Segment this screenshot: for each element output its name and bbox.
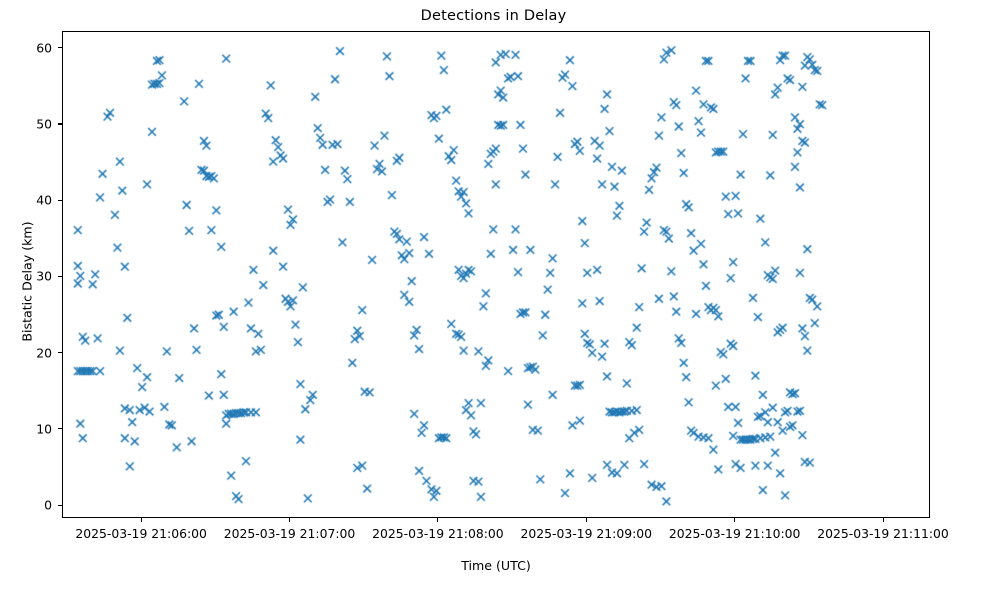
y-tick-mark xyxy=(58,428,62,429)
x-tick-label: 2025-03-19 21:10:00 xyxy=(669,526,801,541)
x-tick-label: 2025-03-19 21:07:00 xyxy=(224,526,356,541)
x-tick-mark xyxy=(437,518,438,522)
y-tick-mark xyxy=(58,276,62,277)
y-tick-mark xyxy=(58,200,62,201)
scatter-plot-canvas xyxy=(63,32,930,518)
y-tick-label: 60 xyxy=(6,40,52,55)
x-tick-label: 2025-03-19 21:11:00 xyxy=(817,526,949,541)
y-tick-mark xyxy=(58,47,62,48)
y-tick-label: 50 xyxy=(6,116,52,131)
y-tick-label: 0 xyxy=(6,498,52,513)
y-tick-mark xyxy=(58,352,62,353)
y-tick-mark xyxy=(58,505,62,506)
x-tick-label: 2025-03-19 21:09:00 xyxy=(520,526,652,541)
y-axis-label: Bistatic Delay (km) xyxy=(20,152,35,412)
plot-area xyxy=(62,31,930,518)
x-axis-label: Time (UTC) xyxy=(62,558,930,573)
page-title: Detections in Delay xyxy=(0,8,987,24)
x-tick-mark xyxy=(734,518,735,522)
x-tick-mark xyxy=(586,518,587,522)
figure-canvas: Detections in Delay 0102030405060 2025-0… xyxy=(0,0,987,590)
x-tick-mark xyxy=(141,518,142,522)
x-tick-label: 2025-03-19 21:06:00 xyxy=(75,526,207,541)
y-tick-mark xyxy=(58,123,62,124)
y-tick-label: 10 xyxy=(6,421,52,436)
x-tick-mark xyxy=(883,518,884,522)
x-tick-label: 2025-03-19 21:08:00 xyxy=(372,526,504,541)
x-tick-mark xyxy=(289,518,290,522)
